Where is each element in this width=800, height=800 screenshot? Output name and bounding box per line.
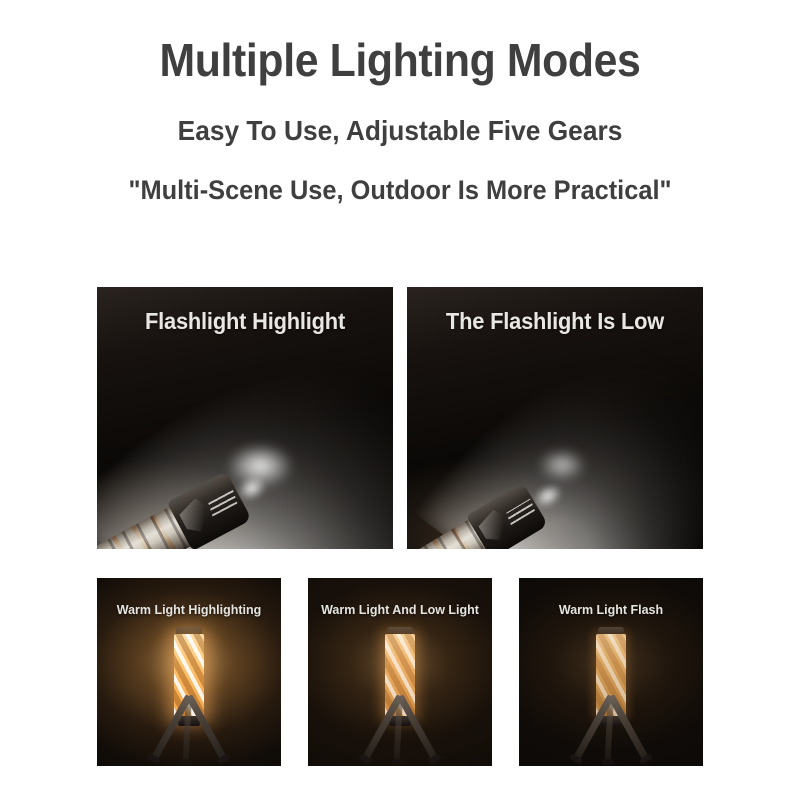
tripod-foot: [569, 754, 583, 766]
photo-panel-warm-high[interactable]: Warm Light Highlighting: [97, 578, 281, 766]
tripod-foot: [601, 759, 614, 766]
tripod-leg: [397, 695, 438, 761]
panel-caption: Warm Light And Low Light: [312, 602, 489, 617]
photo-panel-warm-flash[interactable]: Warm Light Flash: [519, 578, 703, 766]
tripod-foot: [358, 754, 372, 766]
tripod-foot: [217, 754, 231, 766]
tripod-foot: [147, 754, 161, 766]
panel-caption: Flashlight Highlight: [104, 308, 385, 335]
tripod-stand-icon: [135, 696, 243, 766]
panel-caption: Warm Light Highlighting: [101, 602, 278, 617]
tripod-foot: [639, 754, 653, 766]
photo-panel-flashlight-high[interactable]: Flashlight Highlight: [97, 287, 393, 549]
page-tagline: "Multi-Scene Use, Outdoor Is More Practi…: [24, 146, 776, 206]
photo-panel-warm-low[interactable]: Warm Light And Low Light: [308, 578, 492, 766]
page-title: Multiple Lighting Modes: [28, 36, 772, 86]
tripod-stand-icon: [557, 696, 665, 766]
tripod-stand-icon: [346, 696, 454, 766]
gallery-top-row: Flashlight Highlight The Flashlight Is L…: [97, 287, 703, 549]
page-subtitle: Easy To Use, Adjustable Five Gears: [24, 86, 776, 147]
tripod-foot: [390, 759, 403, 766]
tripod-leg: [186, 695, 227, 761]
panel-caption: The Flashlight Is Low: [414, 308, 695, 335]
tripod-leg: [608, 695, 649, 761]
photo-panel-flashlight-low[interactable]: The Flashlight Is Low: [407, 287, 703, 549]
panel-caption: Warm Light Flash: [523, 602, 700, 617]
tripod-foot: [179, 759, 192, 766]
heading-block: Multiple Lighting Modes Easy To Use, Adj…: [0, 0, 800, 206]
tripod-foot: [428, 754, 442, 766]
gallery-bottom-row: Warm Light Highlighting Warm Light And L…: [97, 578, 703, 766]
